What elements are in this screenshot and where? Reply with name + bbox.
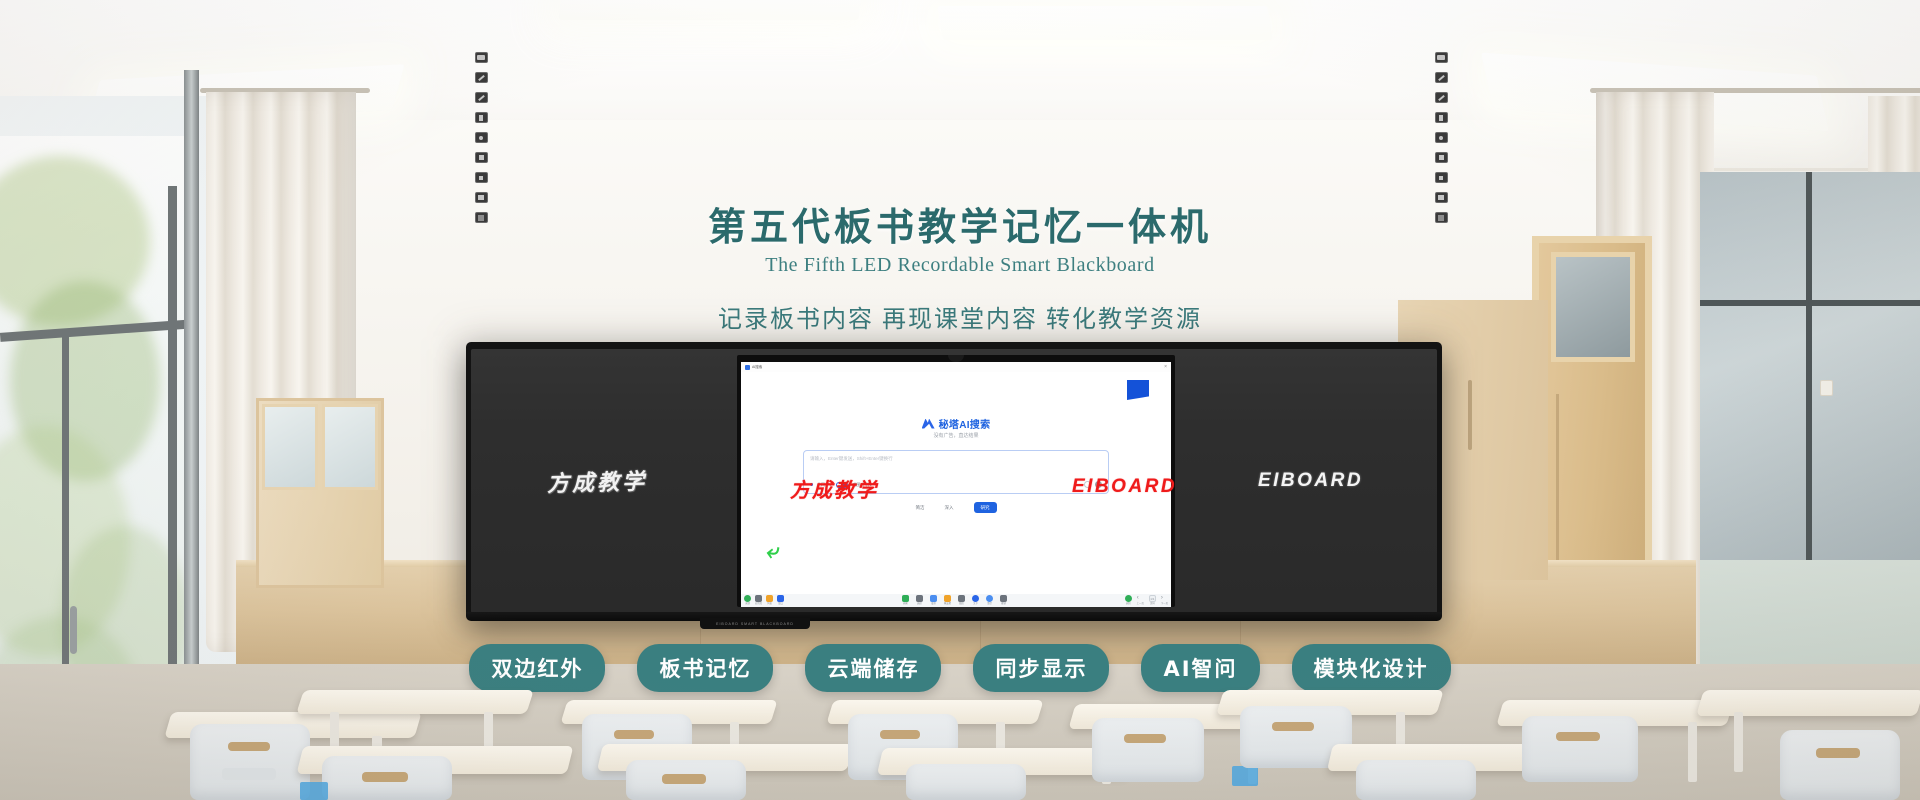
brand-plate: EIBOARD SMART BLACKBOARD xyxy=(700,618,810,629)
undo-arrow-icon[interactable]: ⤷ xyxy=(765,537,781,564)
feature-pill-row: 双边红外 板书记忆 云端储存 同步显示 AI智问 模块化设计 xyxy=(0,644,1920,692)
cabinet-handle[interactable] xyxy=(1468,380,1472,450)
feature-pill-memory[interactable]: 板书记忆 xyxy=(637,644,773,692)
chalk-text-left: 方成教学 xyxy=(547,464,648,499)
ceiling-light-panel xyxy=(937,6,1272,40)
cabinet-glass-door[interactable] xyxy=(262,404,318,490)
student-chair xyxy=(190,724,310,800)
blackboard-bottom-bezel xyxy=(466,612,1442,621)
control-rail-left[interactable] xyxy=(472,52,490,223)
refresh-icon[interactable]: 清空 xyxy=(986,595,993,605)
select-icon[interactable]: 选择 xyxy=(916,595,923,605)
metaso-logo-icon xyxy=(922,419,935,429)
prev-icon[interactable]: ‹ 上一页 xyxy=(1137,595,1144,605)
pause-icon[interactable] xyxy=(1435,192,1448,203)
brand-plate-label: EIBOARD SMART BLACKBOARD xyxy=(716,622,794,626)
pen-alt-icon[interactable] xyxy=(475,92,488,103)
page-icon[interactable] xyxy=(1435,112,1448,123)
feature-pill-cloud[interactable]: 云端储存 xyxy=(805,644,941,692)
pen-alt-icon[interactable] xyxy=(1435,92,1448,103)
mode-concise[interactable]: 简洁 xyxy=(916,505,925,511)
left-window xyxy=(0,96,236,736)
chair-handle-slot xyxy=(1816,748,1860,758)
pen-icon[interactable]: 画笔 xyxy=(902,595,909,605)
app-tab[interactable]: AI搜索 xyxy=(745,365,762,370)
brand-name: 秘塔AI搜索 xyxy=(939,416,991,431)
pause-icon[interactable] xyxy=(475,192,488,203)
monitor-icon[interactable] xyxy=(475,52,488,63)
chair-handle-slot xyxy=(1124,734,1166,743)
square-icon[interactable] xyxy=(475,172,488,183)
student-chair xyxy=(906,764,1026,800)
mode-deep[interactable]: 深入 xyxy=(945,505,954,511)
mode-row: 简洁 深入 研究 xyxy=(741,502,1171,513)
chair-backrest xyxy=(222,768,276,780)
feature-pill-infrared[interactable]: 双边红外 xyxy=(469,644,605,692)
app-tab-label: AI搜索 xyxy=(752,365,762,370)
apps-grid-icon[interactable]: 应用库 xyxy=(755,595,762,605)
record-circle-icon[interactable]: 录制 xyxy=(744,595,751,605)
square-icon[interactable] xyxy=(1435,172,1448,183)
wall-socket xyxy=(1820,380,1833,396)
blackboard-right-wing[interactable]: EIBOARD xyxy=(1184,349,1437,613)
undo-icon[interactable]: 撤销 xyxy=(1000,595,1007,605)
chair-handle-slot xyxy=(880,730,920,739)
page-indicator[interactable]: 1/1 页码 xyxy=(1149,595,1156,605)
record-icon[interactable] xyxy=(475,132,488,143)
next-icon[interactable]: › 下一页 xyxy=(1161,595,1168,605)
whiteboard-toolbar[interactable]: 录制 应用库 列表 窗口 画笔 选择 xyxy=(741,594,1171,607)
page-icon[interactable] xyxy=(475,112,488,123)
stop-icon[interactable] xyxy=(475,152,488,163)
chair-handle-slot xyxy=(362,772,408,782)
toolbar-group-right: 录制 ‹ 上一页 1/1 页码 › 下一页 xyxy=(1125,595,1168,605)
student-chair xyxy=(1780,730,1900,800)
student-chair xyxy=(1092,718,1204,782)
close-icon[interactable]: × xyxy=(1164,365,1167,370)
brand-subtitle: 没有广告，直达结果 xyxy=(741,432,1171,439)
desk-bin xyxy=(300,782,328,800)
grid-icon[interactable] xyxy=(1435,212,1448,223)
stop-icon[interactable] xyxy=(1435,152,1448,163)
brand-block: 秘塔AI搜索 xyxy=(741,416,1171,431)
toolbar-group-center: 画笔 选择 漫游 橡皮擦 图形 文字 xyxy=(902,595,1007,605)
control-rail-right[interactable] xyxy=(1432,52,1450,223)
toolbar-group-left: 录制 应用库 列表 窗口 xyxy=(744,595,784,605)
record-icon[interactable] xyxy=(1435,132,1448,143)
hand-icon[interactable]: 漫游 xyxy=(930,595,937,605)
feature-pill-modular[interactable]: 模块化设计 xyxy=(1292,644,1451,692)
chair-handle-slot xyxy=(1272,722,1314,731)
headline-block: 第五代板书教学记忆一体机 The Fifth LED Recordable Sm… xyxy=(0,208,1920,334)
chair-handle-slot xyxy=(614,730,654,739)
ink-annotation-en: EIBOARD xyxy=(1072,476,1177,498)
mode-research[interactable]: 研究 xyxy=(974,502,997,513)
eraser-icon[interactable]: 橡皮擦 xyxy=(944,595,951,605)
pen-icon[interactable] xyxy=(1435,72,1448,83)
app-titlebar: AI搜索 × xyxy=(741,362,1171,372)
poster-stage: 第五代板书教学记忆一体机 The Fifth LED Recordable Sm… xyxy=(0,0,1920,800)
blackboard-left-wing[interactable]: 方成教学 xyxy=(471,349,724,613)
student-chair xyxy=(1356,760,1476,800)
decorative-flag-icon xyxy=(1127,380,1149,400)
search-input[interactable]: 请输入，Enter键发送，Shift+Enter键换行 xyxy=(810,456,1102,462)
desk-bin xyxy=(1232,766,1258,786)
page-tagline: 记录板书内容 再现课堂内容 转化教学资源 xyxy=(0,299,1920,334)
ceiling-light-panel xyxy=(559,0,862,20)
chair-handle-slot xyxy=(1556,732,1600,741)
windows-icon[interactable]: 窗口 xyxy=(777,595,784,605)
cabinet-glass-door[interactable] xyxy=(322,404,378,490)
list-icon[interactable]: 列表 xyxy=(766,595,773,605)
student-chair xyxy=(1522,716,1638,782)
pen-icon[interactable] xyxy=(475,72,488,83)
text-icon[interactable]: 文字 xyxy=(972,595,979,605)
shape-icon[interactable]: 图形 xyxy=(958,595,965,605)
record-circle-icon[interactable]: 录制 xyxy=(1125,595,1132,605)
grid-icon[interactable] xyxy=(475,212,488,223)
monitor-icon[interactable] xyxy=(1435,52,1448,63)
ink-annotation-cn: 方成教学 xyxy=(790,474,878,503)
chair-handle-slot xyxy=(662,774,706,784)
feature-pill-ai[interactable]: AI智问 xyxy=(1141,644,1259,692)
chalk-text-right: EIBOARD xyxy=(1258,470,1363,492)
page-subtitle: The Fifth LED Recordable Smart Blackboar… xyxy=(0,254,1920,277)
app-favicon-icon xyxy=(745,365,750,370)
page-title: 第五代板书教学记忆一体机 xyxy=(0,208,1920,250)
chair-handle-slot xyxy=(228,742,270,751)
feature-pill-sync[interactable]: 同步显示 xyxy=(973,644,1109,692)
